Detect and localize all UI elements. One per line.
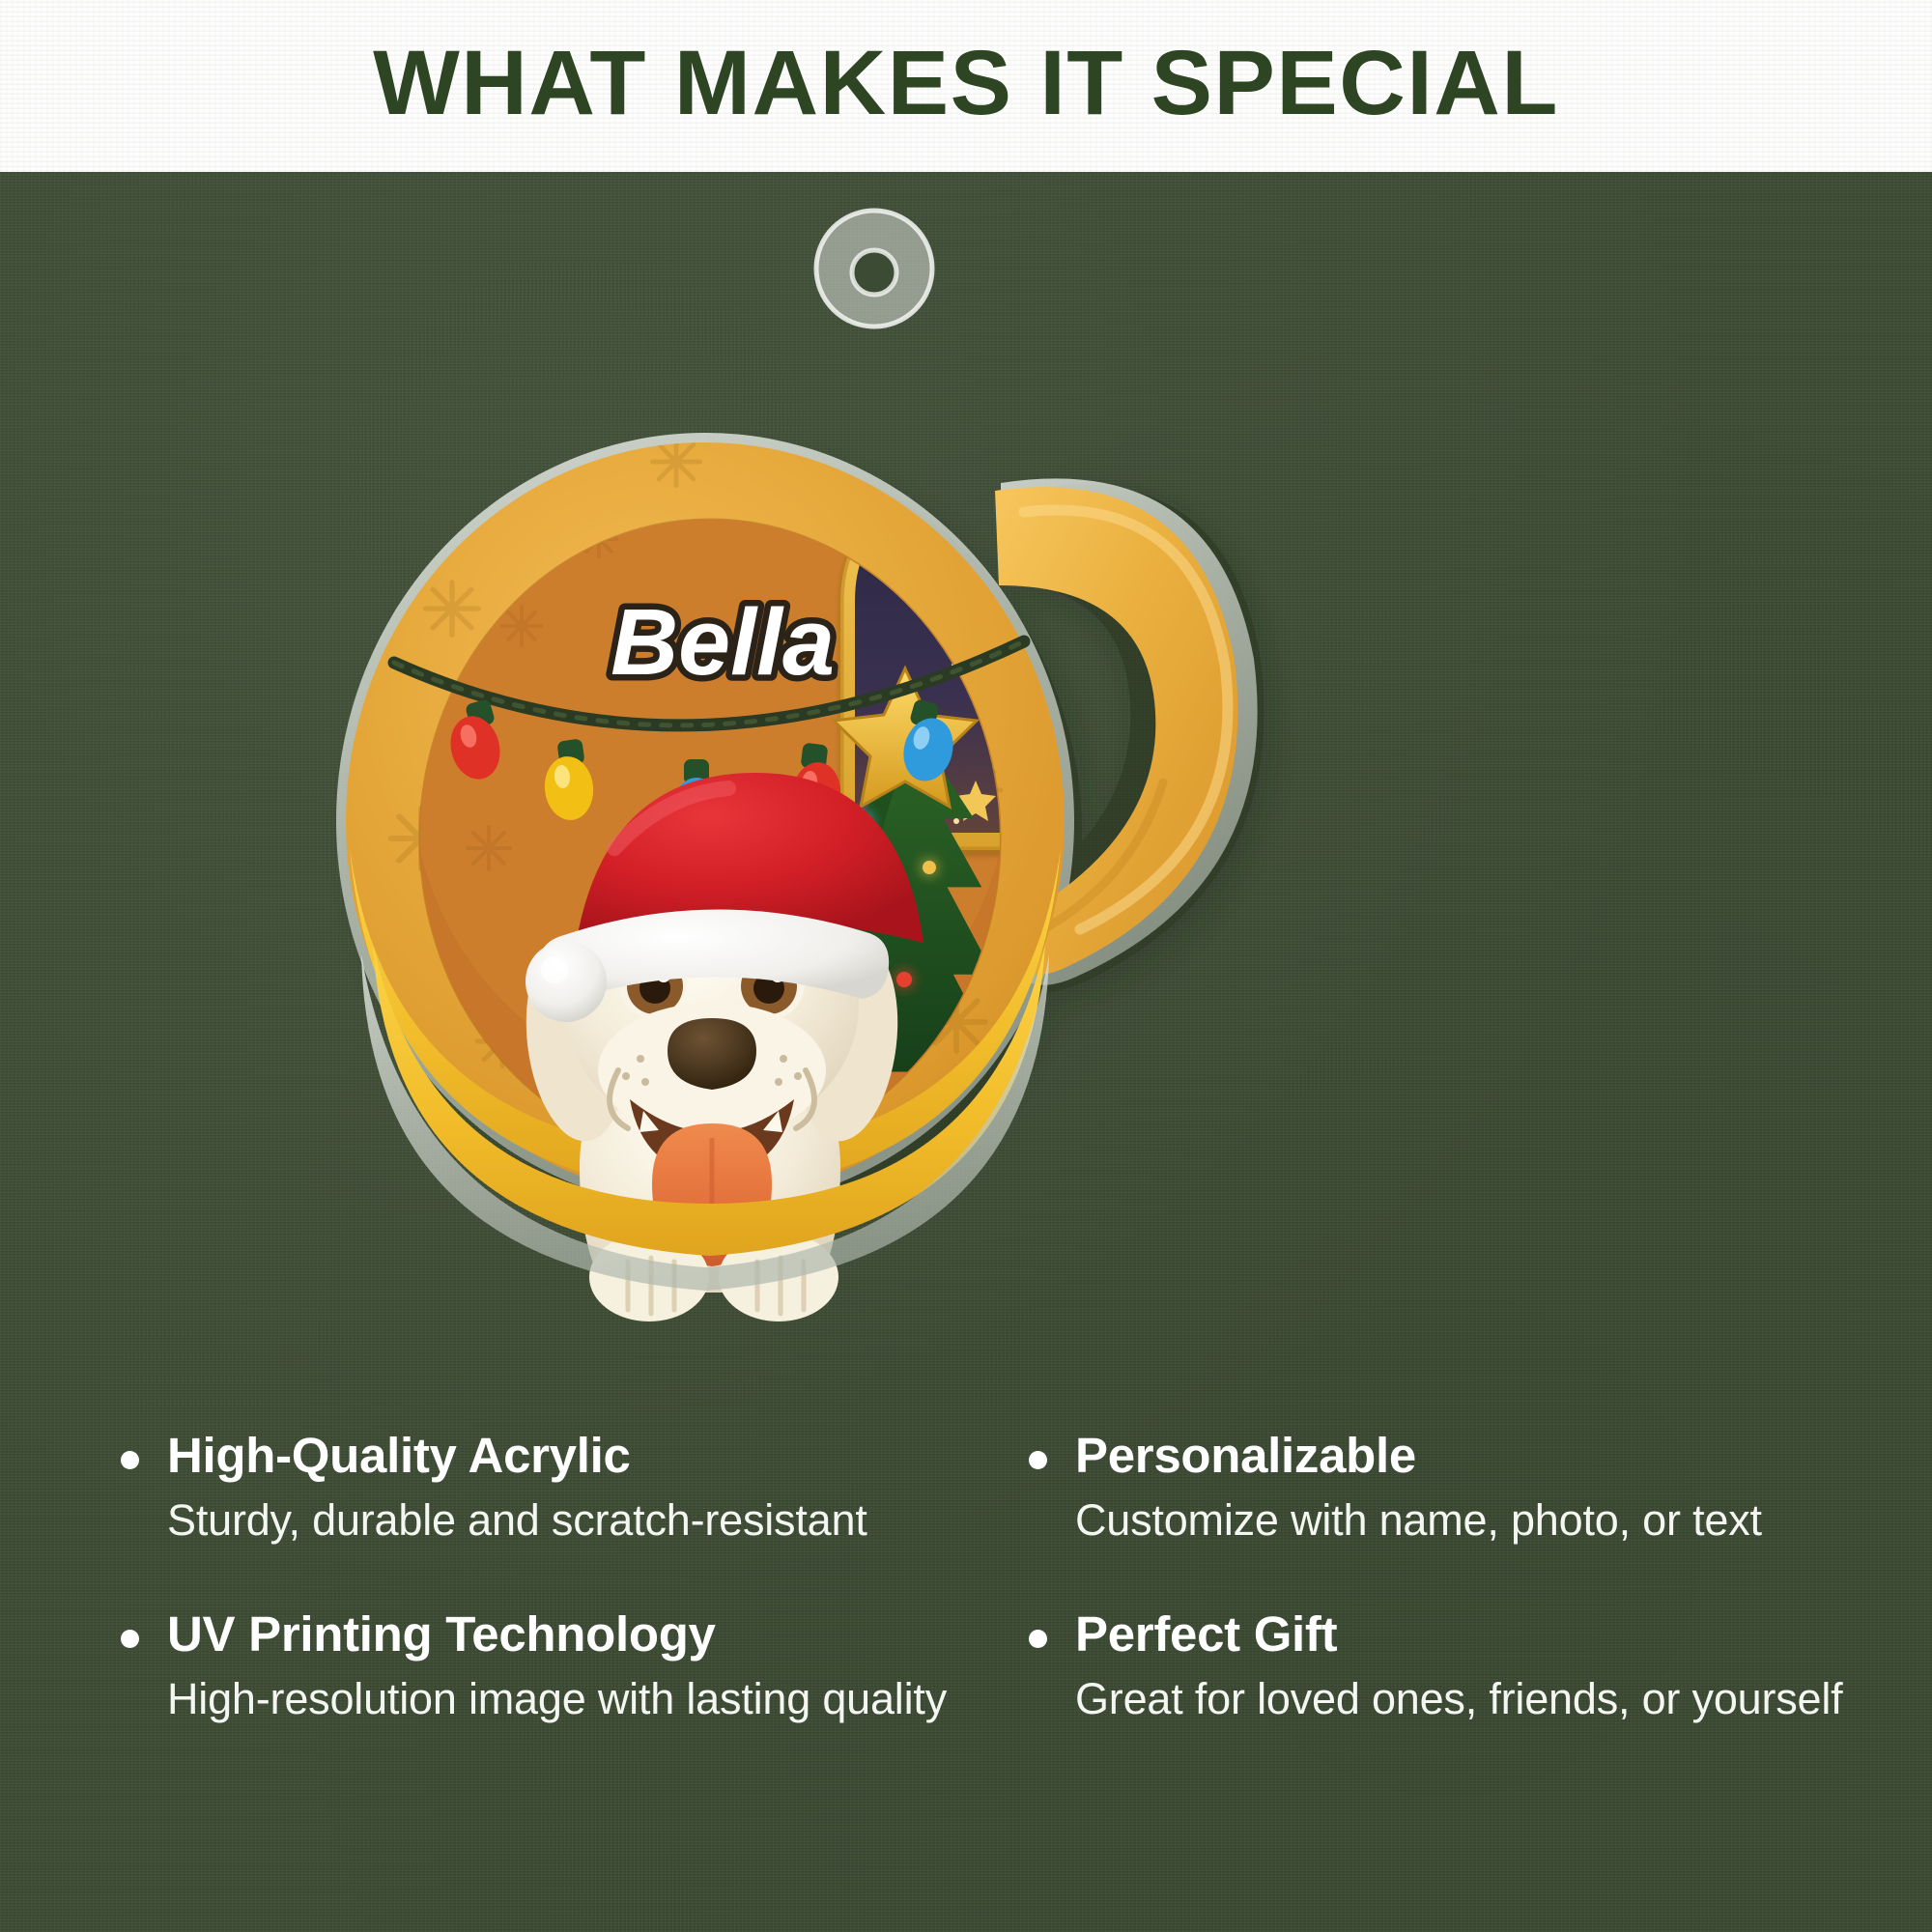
- feature-title: High-Quality Acrylic: [167, 1430, 1019, 1481]
- feature-title: Perfect Gift: [1075, 1608, 1932, 1660]
- bullet-icon: [1029, 1630, 1047, 1648]
- page-title: WHAT MAKES IT SPECIAL: [373, 38, 1559, 135]
- hat-pompom: [526, 941, 607, 1022]
- feature-subtitle: Great for loved ones, friends, or yourse…: [1075, 1675, 1932, 1723]
- product-feature-infographic: WHAT MAKES IT SPECIAL: [0, 0, 1932, 1932]
- feature-subtitle: Customize with name, photo, or text: [1075, 1496, 1932, 1545]
- header-band: WHAT MAKES IT SPECIAL: [0, 0, 1932, 172]
- feature-item-uv-printing-technology: UV Printing Technology High-resolution i…: [121, 1608, 1019, 1787]
- feature-subtitle: Sturdy, durable and scratch-resistant: [167, 1496, 1019, 1545]
- bullet-icon: [121, 1451, 139, 1469]
- feature-title: UV Printing Technology: [167, 1608, 1019, 1660]
- bullet-icon: [1029, 1451, 1047, 1469]
- product-image: Bella: [0, 172, 1932, 1389]
- feature-list: High-Quality Acrylic Sturdy, durable and…: [0, 1430, 1932, 1845]
- feature-item-personalizable: Personalizable Customize with name, phot…: [1029, 1430, 1932, 1608]
- svg-text:Bella: Bella: [611, 589, 835, 695]
- bullet-icon: [121, 1630, 139, 1648]
- feature-item-high-quality-acrylic: High-Quality Acrylic Sturdy, durable and…: [121, 1430, 1019, 1608]
- feature-title: Personalizable: [1075, 1430, 1932, 1481]
- feature-item-perfect-gift: Perfect Gift Great for loved ones, frien…: [1029, 1608, 1932, 1787]
- personalized-name: Bella: [611, 589, 835, 695]
- feature-subtitle: High-resolution image with lasting quali…: [167, 1675, 1019, 1723]
- hanger-tab: [816, 211, 932, 327]
- ornament-illustration: Bella: [0, 172, 1932, 1389]
